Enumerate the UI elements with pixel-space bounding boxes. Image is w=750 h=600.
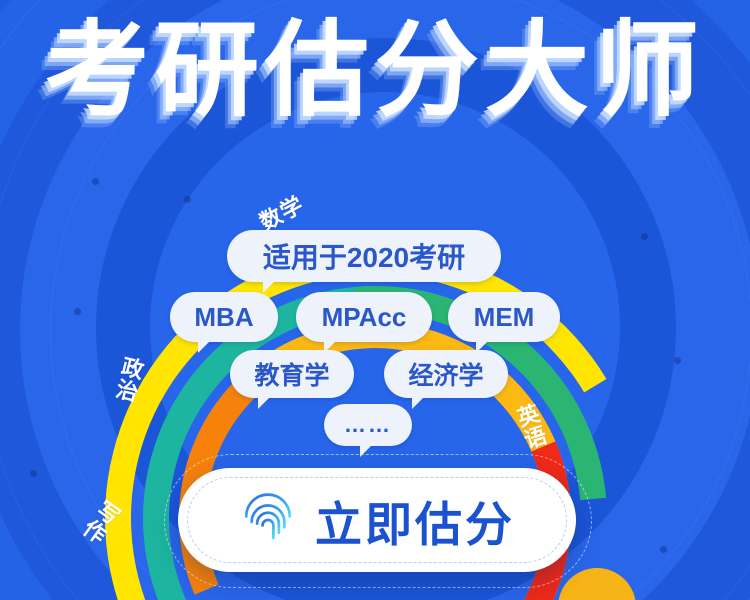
bg-dot (184, 196, 191, 203)
bubble-economics[interactable]: 经济学 (384, 350, 508, 398)
bg-dot (660, 546, 667, 553)
bg-dot (641, 233, 648, 240)
bubble-applicable-year[interactable]: 适用于2020考研 (227, 230, 501, 282)
bubble-mem[interactable]: MEM (448, 292, 560, 342)
bubble-label: MBA (194, 302, 253, 333)
bg-dot (30, 470, 37, 477)
bubble-label: MEM (474, 302, 535, 333)
promo-banner: 数学 政治 写作 英语 考研估分大师 适用于2020考研 MBA MPAcc M… (0, 0, 750, 600)
bubble-label: 经济学 (408, 356, 483, 392)
bg-dot (674, 357, 681, 364)
start-scoring-button[interactable]: 立即估分 (178, 468, 576, 572)
bubble-mba[interactable]: MBA (170, 292, 278, 342)
bubble-label: 适用于2020考研 (263, 236, 465, 276)
bg-dot (74, 308, 81, 315)
bubble-education[interactable]: 教育学 (230, 350, 354, 398)
page-title: 考研估分大师 (0, 14, 750, 126)
fingerprint-icon (239, 491, 297, 549)
bubble-label: 教育学 (254, 356, 329, 392)
bubble-label: …… (344, 412, 392, 438)
bubble-more[interactable]: …… (324, 404, 412, 446)
bubble-mpacc[interactable]: MPAcc (296, 292, 432, 342)
cta-label: 立即估分 (315, 486, 515, 555)
bubble-label: MPAcc (322, 302, 407, 333)
bg-dot (92, 178, 99, 185)
